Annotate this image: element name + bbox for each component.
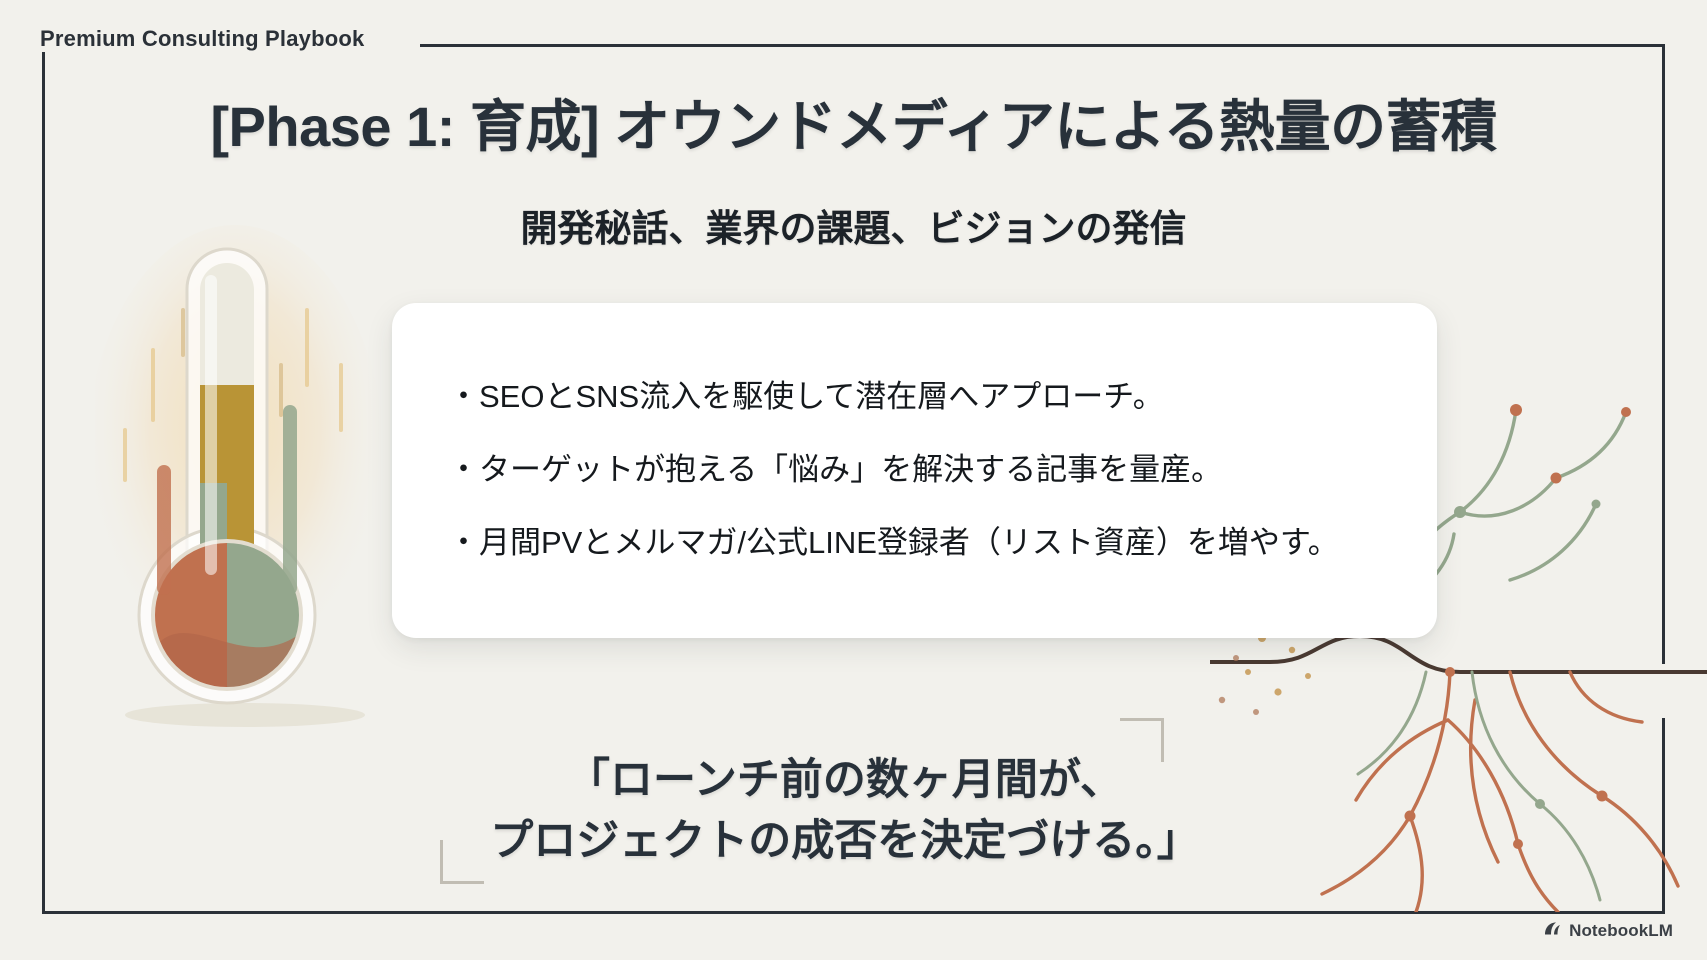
bullet-card: ・SEOとSNS流入を駆使して潜在層へアプローチ。 ・ターゲットが抱える「悩み」… [392,303,1437,638]
footer-brand-label: NotebookLM [1569,921,1673,941]
frame-border-left [42,44,45,914]
list-item: ・SEOとSNS流入を駆使して潜在層へアプローチ。 [448,378,1381,417]
frame-border-top [420,44,1665,47]
pull-quote-line-1: 「ローンチ前の数ヶ月間が、 [430,750,1260,811]
list-item: ・月間PVとメルマガ/公式LINE登録者（リスト資産）を増やす。 [448,524,1381,563]
notebooklm-logo-icon [1543,920,1562,942]
pull-quote: 「ローンチ前の数ヶ月間が、 プロジェクトの成否を決定づける。」 [430,750,1260,872]
page-title: [Phase 1: 育成] オウンドメディアによる熱量の蓄積 [0,82,1707,163]
thermometer-illustration [95,215,395,735]
page-subtitle: 開発秘話、業界の課題、ビジョンの発信 [0,198,1707,252]
eyebrow-label: Premium Consulting Playbook [40,26,378,52]
slide-root: Premium Consulting Playbook [0,0,1707,960]
footer-brand: NotebookLM [1543,920,1673,942]
list-item: ・ターゲットが抱える「悩み」を解決する記事を量産。 [448,451,1381,490]
pull-quote-line-2: プロジェクトの成否を決定づける。」 [430,811,1260,872]
